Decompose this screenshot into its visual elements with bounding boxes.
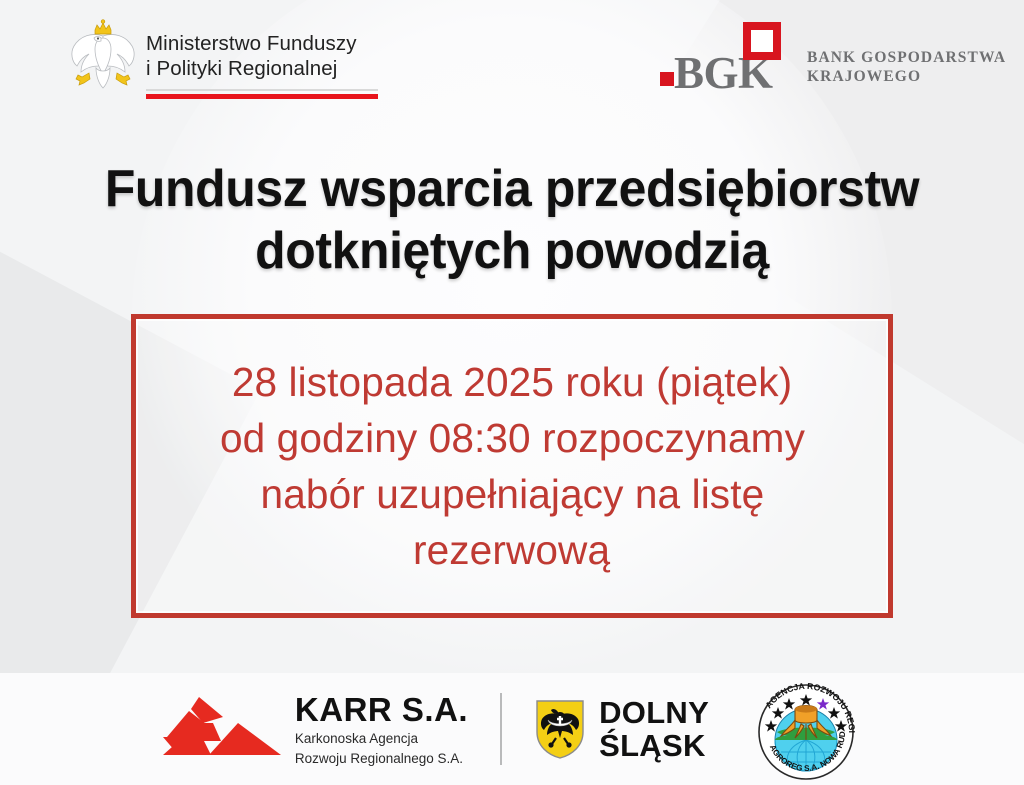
announcement-line-4: rezerwową: [413, 522, 610, 578]
poster-header: Ministerstwo Funduszy i Polityki Regiona…: [0, 0, 1024, 112]
ministry-text-block: Ministerstwo Funduszy i Polityki Regiona…: [146, 16, 378, 99]
bgk-red-dot-icon: [660, 72, 674, 86]
polish-eagle-emblem-icon: [68, 16, 138, 94]
dolny-slask-line2: ŚLĄSK: [599, 729, 709, 762]
lower-silesia-coat-of-arms-icon: [534, 698, 586, 760]
page-title-line1: Fundusz wsparcia przedsiębiorstw: [20, 158, 1003, 220]
bgk-full-name: BANK GOSPODARSTWA KRAJOWEGO: [807, 22, 1006, 86]
ministry-red-rule: [146, 94, 378, 99]
announcement-line-2: od godziny 08:30 rozpoczynamy: [219, 410, 804, 466]
footer-divider: [500, 693, 502, 765]
announcement-line-1: 28 listopada 2025 roku (piątek): [232, 354, 792, 410]
agroreg-globe-emblem-icon: AGENCJA ROZWOJU REGIONALNEGO AGROREG S.A…: [751, 674, 861, 784]
ministry-name-line1: Ministerstwo Funduszy: [146, 31, 378, 56]
ministry-logo: Ministerstwo Funduszy i Polityki Regiona…: [68, 16, 378, 99]
dolny-slask-logo: DOLNY ŚLĄSK: [534, 696, 709, 762]
bgk-full-name-line2: KRAJOWEGO: [807, 67, 1006, 86]
karr-title: KARR S.A.: [295, 692, 468, 727]
page-title-line2: dotkniętych powodzią: [20, 220, 1003, 282]
karr-logo: KARR S.A. Karkonoska Agencja Rozwoju Reg…: [163, 692, 468, 767]
dolny-slask-text-block: DOLNY ŚLĄSK: [599, 696, 709, 762]
announcement-line-3: nabór uzupełniający na listę: [260, 466, 764, 522]
karr-text-block: KARR S.A. Karkonoska Agencja Rozwoju Reg…: [295, 692, 468, 767]
karr-subtitle-line1: Karkonoska Agencja: [295, 730, 468, 747]
bgk-logo: BGK BANK GOSPODARSTWA KRAJOWEGO: [656, 22, 1006, 92]
poster-footer: KARR S.A. Karkonoska Agencja Rozwoju Reg…: [0, 673, 1024, 785]
page-title: Fundusz wsparcia przedsiębiorstw dotknię…: [0, 158, 1024, 282]
ministry-name-line2: i Polityki Regionalnej: [146, 56, 378, 81]
dolny-slask-line1: DOLNY: [599, 696, 709, 729]
karr-subtitle-line2: Rozwoju Regionalnego S.A.: [295, 750, 468, 767]
bgk-full-name-line1: BANK GOSPODARSTWA: [807, 48, 1006, 67]
karr-red-mountains-icon: [163, 697, 281, 761]
red-square-outline-icon: [743, 22, 781, 60]
poster-canvas: Ministerstwo Funduszy i Polityki Regiona…: [0, 0, 1024, 785]
announcement-box: 28 listopada 2025 roku (piątek) od godzi…: [131, 314, 893, 618]
ministry-gray-rule: [146, 89, 378, 91]
bgk-wordmark: BGK: [656, 22, 791, 92]
